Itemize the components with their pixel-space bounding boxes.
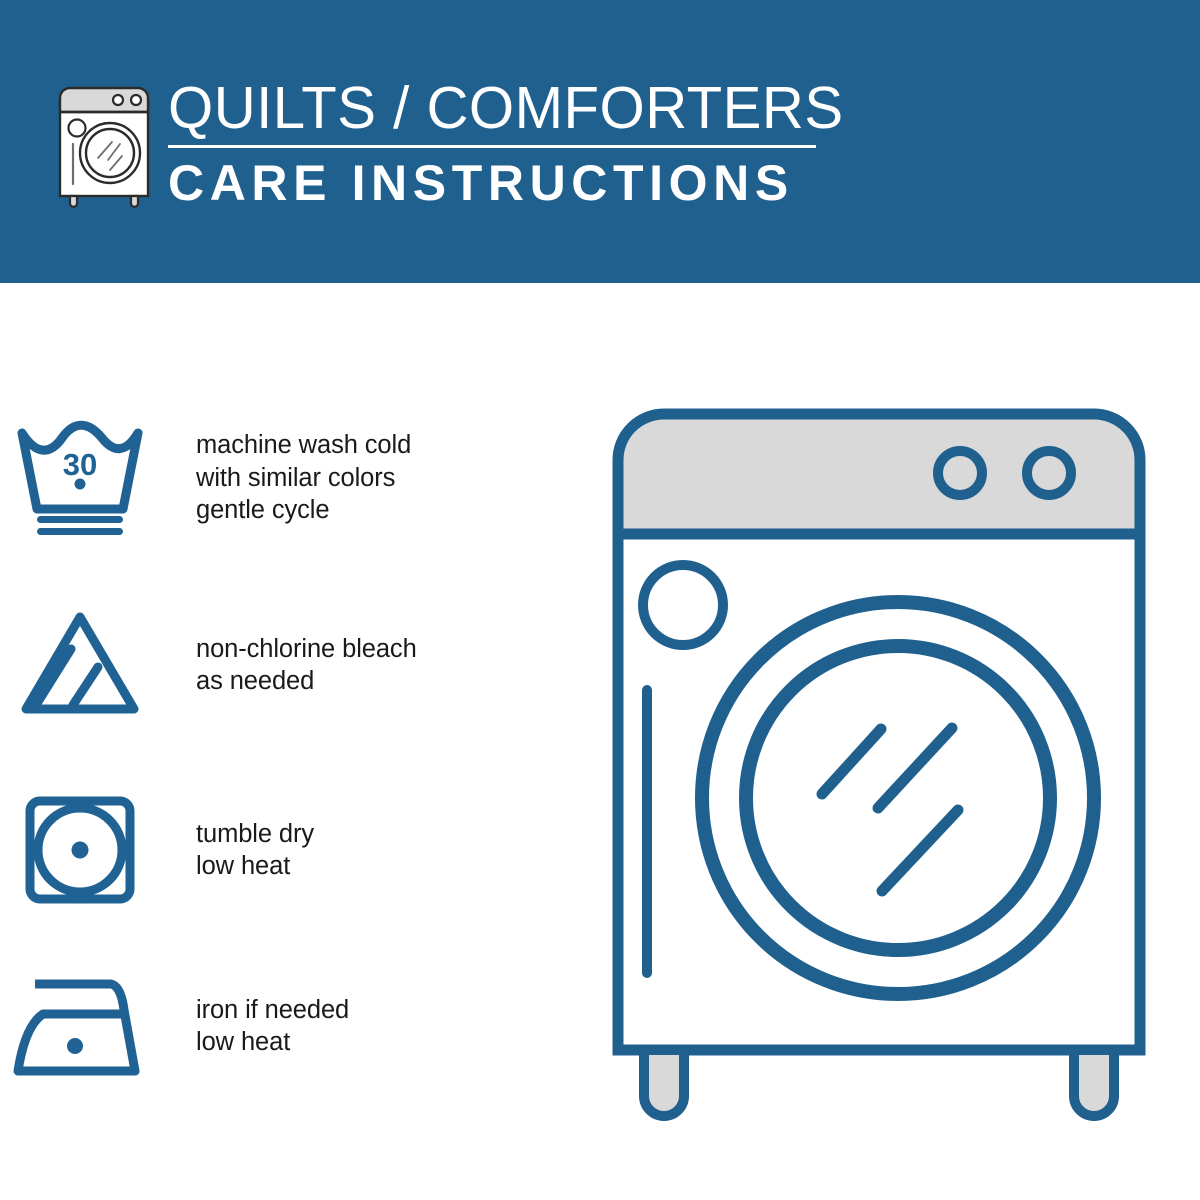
non-chlorine-bleach-triangle-icon [0,600,160,730]
care-text-line: low heat [196,850,314,883]
wash-heat-dot [75,479,86,490]
page-title: QUILTS / COMFORTERS [168,77,818,139]
detergent-port-icon [643,565,723,645]
tumble-dry-low-heat-icon [0,785,160,915]
front-load-washing-machine-illustration [600,398,1170,1128]
page-header: QUILTS / COMFORTERS CARE INSTRUCTIONS [0,0,1200,283]
page-subtitle: CARE INSTRUCTIONS [168,155,828,211]
iron-low-heat-icon [0,961,160,1091]
care-row: non-chlorine bleach as needed [0,600,540,730]
machine-wash-30-gentle-icon: 30 [0,413,160,543]
care-instructions-page: QUILTS / COMFORTERS CARE INSTRUCTIONS 30 [0,0,1200,1200]
care-row-text: iron if needed low heat [196,994,349,1059]
care-row: iron if needed low heat [0,961,540,1091]
care-text-line: non-chlorine bleach [196,633,417,666]
iron-heat-dot [67,1038,83,1054]
header-title-group: QUILTS / COMFORTERS CARE INSTRUCTIONS [168,77,828,211]
care-text-line: machine wash cold [196,429,411,462]
gentle-bar [37,516,123,523]
care-text-line: gentle cycle [196,494,411,527]
care-row-text: machine wash cold with similar colors ge… [196,429,411,527]
care-text-line: as needed [196,665,417,698]
door-inner-ring [746,646,1050,950]
gentle-bar [37,528,123,535]
title-divider [168,145,816,148]
care-text-line: low heat [196,1026,349,1059]
care-row-text: tumble dry low heat [196,818,314,883]
care-row: tumble dry low heat [0,785,540,915]
washer-leg [644,1050,684,1116]
care-text-line: tumble dry [196,818,314,851]
control-knob [1027,451,1071,495]
wash-temperature-value: 30 [63,447,97,482]
control-knob [938,451,982,495]
washer-leg [1074,1050,1114,1116]
care-text-line: iron if needed [196,994,349,1027]
care-row: 30 machine wash cold with similar colors… [0,413,540,543]
care-row-text: non-chlorine bleach as needed [196,633,417,698]
washing-machine-icon [52,80,156,208]
dry-heat-dot [72,842,89,859]
care-instruction-list: 30 machine wash cold with similar colors… [0,283,560,1200]
care-text-line: with similar colors [196,462,411,495]
